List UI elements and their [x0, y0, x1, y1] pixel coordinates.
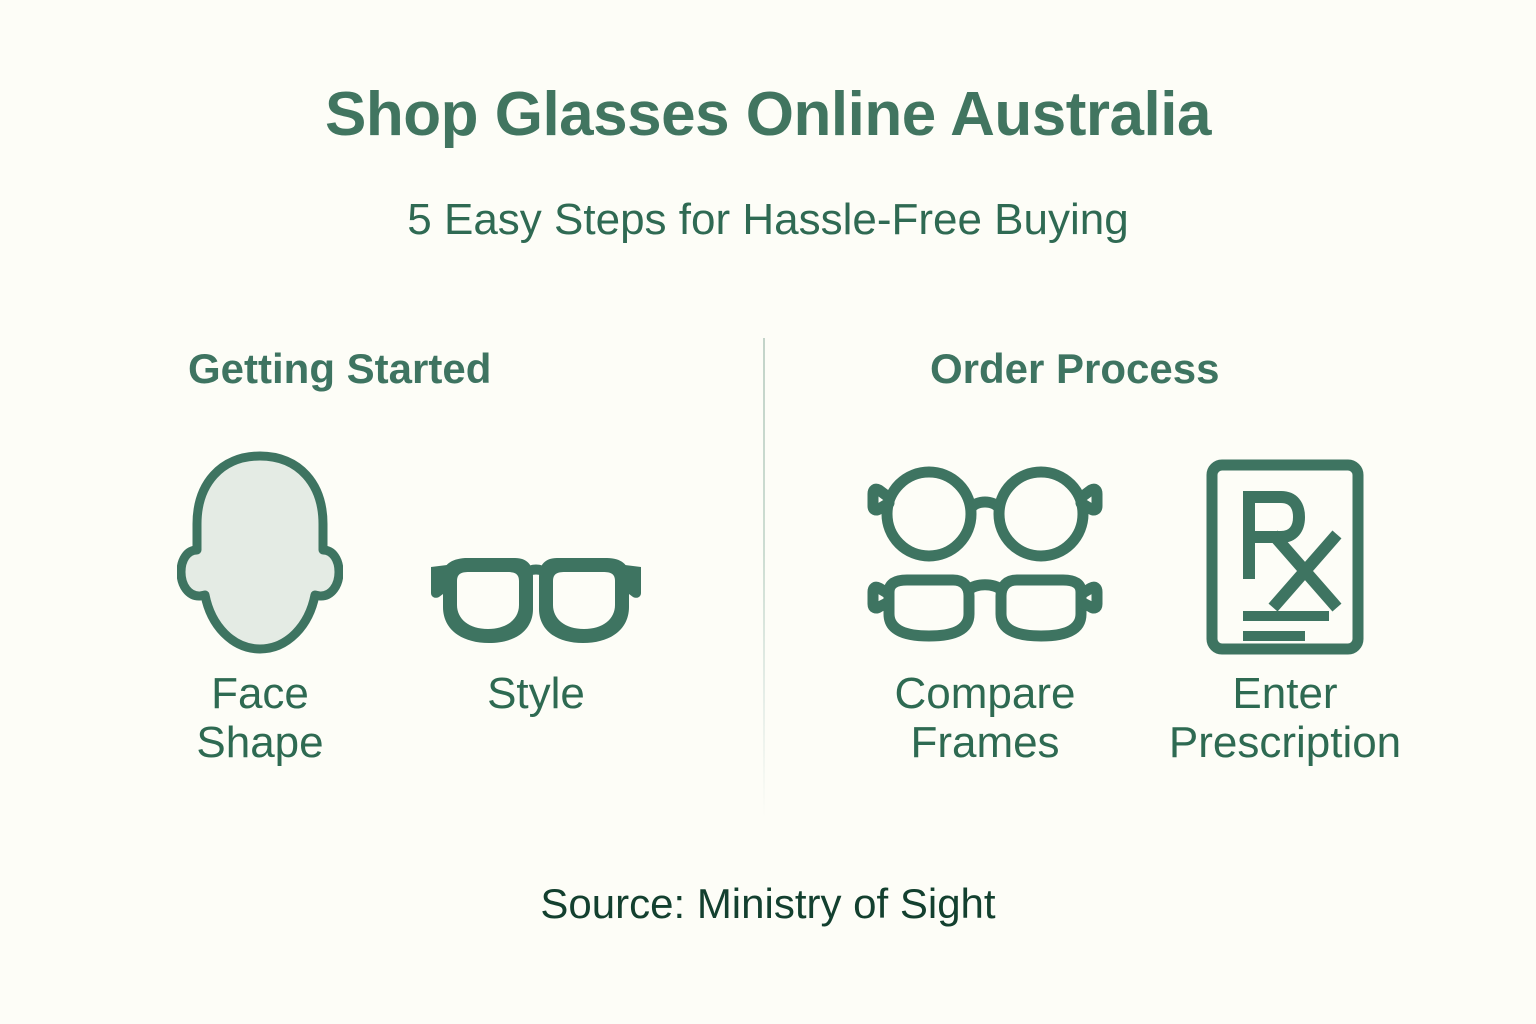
page-subtitle: 5 Easy Steps for Hassle-Free Buying: [0, 196, 1536, 244]
item-label-enter-prescription: Enter Prescription: [1120, 669, 1450, 768]
glasses-style-icon: [425, 545, 647, 655]
page-title: Shop Glasses Online Australia: [0, 82, 1536, 147]
compare-frames-icon: [867, 460, 1103, 655]
face-shape-icon-box: [140, 440, 380, 655]
item-label-compare-frames: Compare Frames: [850, 669, 1120, 768]
item-label-face-shape: Face Shape: [140, 669, 380, 768]
prescription-pad-icon-box: [1120, 440, 1450, 655]
item-enter-prescription[interactable]: Enter Prescription: [1120, 440, 1450, 768]
section-divider: [763, 338, 765, 818]
section-heading-order-process: Order Process: [930, 345, 1220, 393]
face-shape-icon: [177, 450, 343, 655]
compare-frames-icon-box: [850, 440, 1120, 655]
item-label-style: Style: [398, 669, 674, 718]
item-face-shape[interactable]: Face Shape: [140, 440, 380, 768]
prescription-pad-icon: [1205, 459, 1365, 655]
section-heading-getting-started: Getting Started: [188, 345, 491, 393]
source-caption: Source: Ministry of Sight: [0, 880, 1536, 928]
glasses-style-icon-box: [398, 440, 674, 655]
infographic-canvas: Shop Glasses Online Australia 5 Easy Ste…: [0, 0, 1536, 1024]
item-compare-frames[interactable]: Compare Frames: [850, 440, 1120, 768]
item-style[interactable]: Style: [398, 440, 674, 718]
